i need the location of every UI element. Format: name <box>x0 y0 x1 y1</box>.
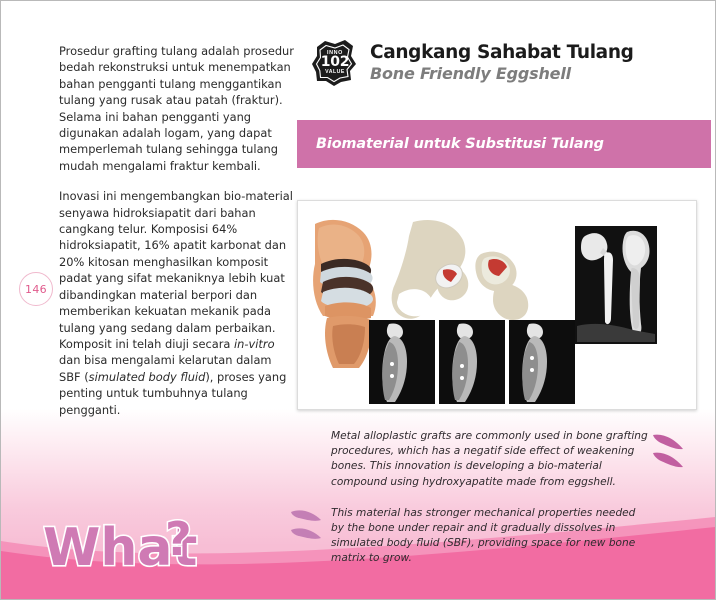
title-indonesian: Cangkang Sahabat Tulang <box>370 42 634 63</box>
inno-102-badge-icon: INNO 102 VALUE <box>311 37 359 87</box>
english-paragraph-1: Metal alloplastic grafts are commonly us… <box>331 429 651 490</box>
section-banner: Biomaterial untuk Substitusi Tulang <box>297 120 711 168</box>
article-header: INNO 102 VALUE Cangkang Sahabat Tulang B… <box>311 37 634 87</box>
figure-illustrations <box>303 206 691 404</box>
arm-xray-3 <box>509 320 575 404</box>
article-paragraph-1: Prosedur grafting tulang adalah prosedur… <box>59 43 294 174</box>
section-banner-label: Biomaterial untuk Substitusi Tulang <box>297 136 604 152</box>
femur-xray <box>575 226 657 344</box>
page-number-value: 146 <box>25 283 47 296</box>
article-p2-seg1: Inovasi ini mengembangkan bio-material s… <box>59 189 293 351</box>
article-p2-italic-invitro: in-vitro <box>234 337 275 351</box>
article-p2-italic-sbf: simulated body fluid <box>89 370 206 384</box>
arm-xray-2 <box>439 320 505 404</box>
arm-xray-1 <box>369 320 435 404</box>
article-paragraph-2: Inovasi ini mengembangkan bio-material s… <box>59 188 294 418</box>
english-summary: Metal alloplastic grafts are commonly us… <box>331 429 651 567</box>
page-number: 146 <box>19 272 53 306</box>
figure-panel-inner <box>303 206 691 404</box>
swoosh-decoration-left <box>289 506 329 548</box>
title-group: Cangkang Sahabat Tulang Bone Friendly Eg… <box>370 42 634 83</box>
figure-panel <box>297 200 697 410</box>
english-paragraph-2: This material has stronger mechanical pr… <box>331 506 651 567</box>
article-column: Prosedur grafting tulang adalah prosedur… <box>59 43 294 432</box>
magazine-page: 146 Prosedur grafting tulang adalah pros… <box>0 0 716 600</box>
title-english: Bone Friendly Eggshell <box>370 64 634 83</box>
swoosh-decoration-right <box>649 431 691 475</box>
what-wordmark: What ? <box>43 513 223 583</box>
what-wordmark-question-mark: ? <box>165 513 192 566</box>
